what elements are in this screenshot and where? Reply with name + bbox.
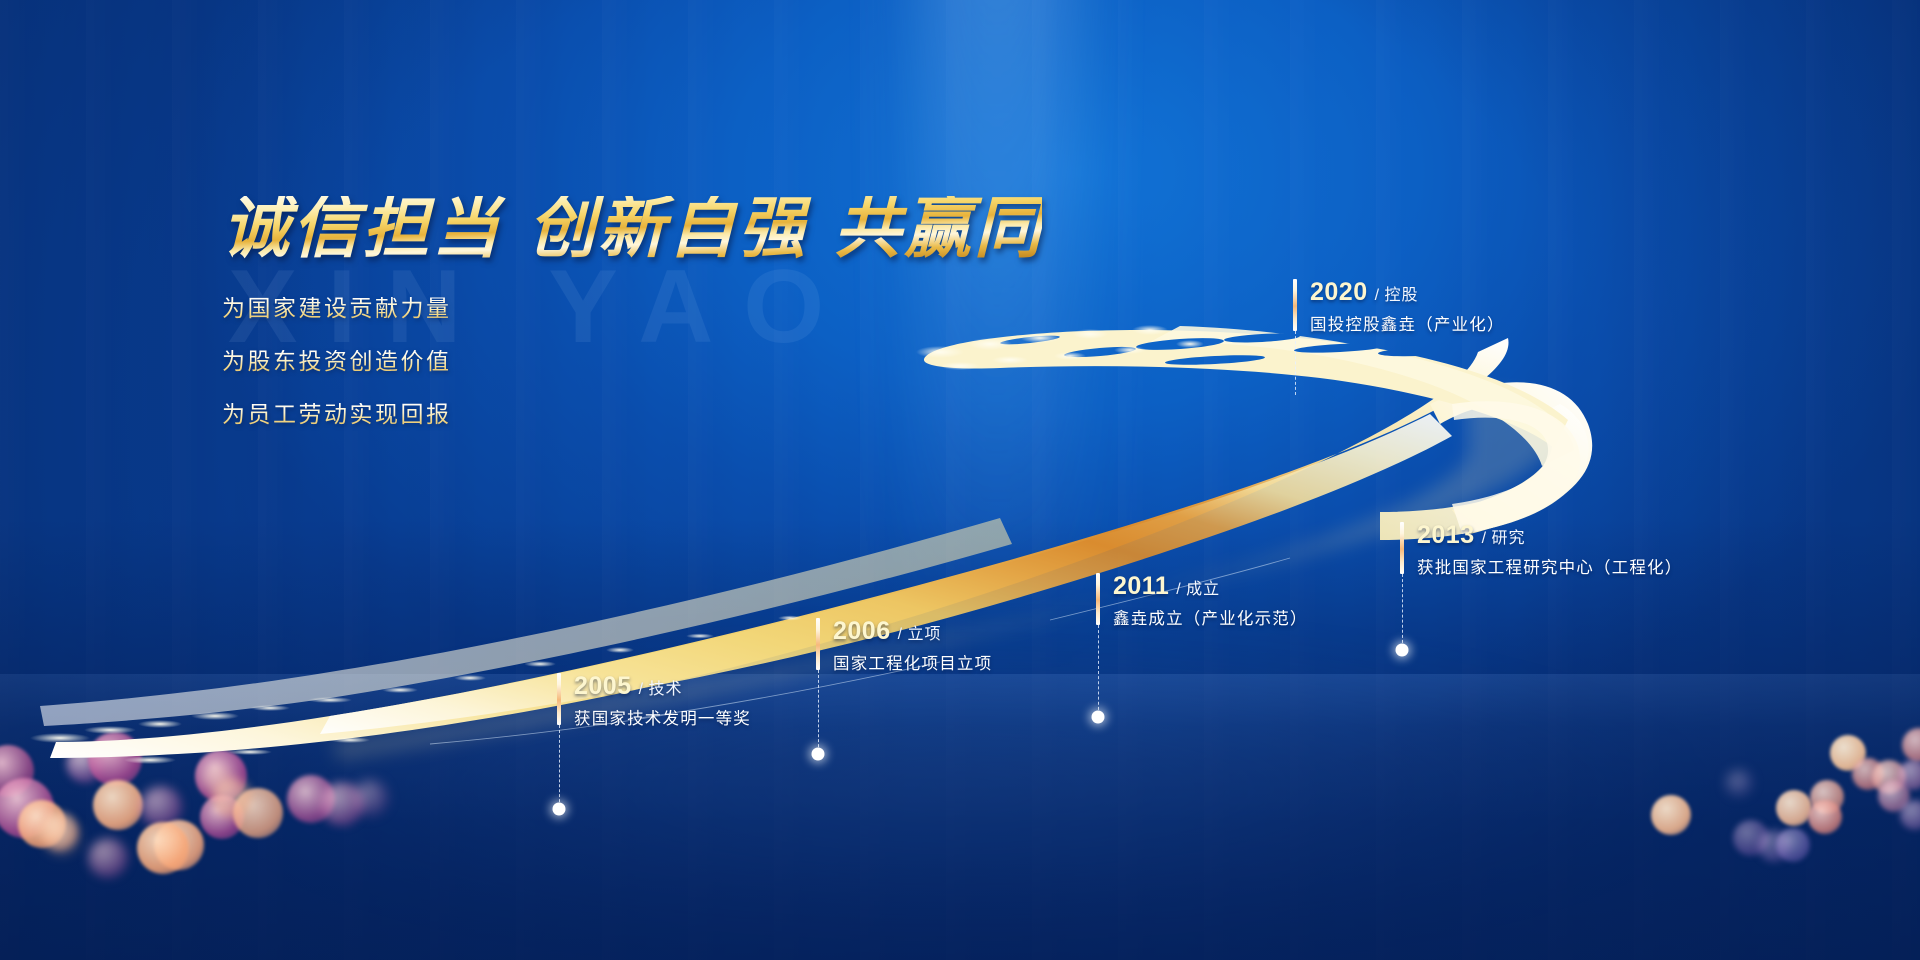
headline-block: XIN YAO 诚信担当创新自强共赢同享 为国家建设贡献力量 为股东投资创造价值… <box>222 196 1042 456</box>
milestone-2011[interactable]: 2011/ 成立 鑫垚成立（产业化示范） <box>1096 573 1308 628</box>
slogan-list: 为国家建设贡献力量 为股东投资创造价值 为员工劳动实现回报 <box>222 297 1042 426</box>
slogan-line: 为股东投资创造价值 <box>222 350 452 373</box>
brush-stroke-swoosh <box>0 0 1920 960</box>
milestone-leader-line-2005 <box>559 725 560 807</box>
slogan-line: 为员工劳动实现回报 <box>222 403 452 426</box>
milestone-dot-2013 <box>1396 644 1409 657</box>
milestone-description: 国投控股鑫垚（产业化） <box>1310 317 1505 334</box>
title-part-3: 共赢同享 <box>834 192 1114 266</box>
milestone-2006[interactable]: 2006/ 立项 国家工程化项目立项 <box>816 618 992 673</box>
milestone-accent-bar <box>1400 522 1404 574</box>
milestone-year: 2005 <box>574 674 632 699</box>
banner-canvas: XIN YAO 诚信担当创新自强共赢同享 为国家建设贡献力量 为股东投资创造价值… <box>0 0 1920 960</box>
milestone-2005[interactable]: 2005/ 技术 获国家技术发明一等奖 <box>557 673 751 728</box>
milestone-dot-2011 <box>1092 711 1105 724</box>
milestone-year: 2013 <box>1417 523 1475 548</box>
slogan-line: 为国家建设贡献力量 <box>222 297 452 320</box>
milestone-accent-bar <box>557 673 561 725</box>
milestone-tag: 控股 <box>1385 287 1419 304</box>
milestone-2020[interactable]: 2020/ 控股 国投控股鑫垚（产业化） <box>1293 279 1505 334</box>
milestone-year: 2006 <box>833 619 891 644</box>
milestone-accent-bar <box>1293 279 1297 331</box>
milestone-year: 2011 <box>1113 574 1169 599</box>
page-title: 诚信担当创新自强共赢同享 <box>222 196 1042 263</box>
milestone-tag: 成立 <box>1186 581 1220 598</box>
milestone-2013[interactable]: 2013/ 研究 获批国家工程研究中心（工程化） <box>1400 522 1683 577</box>
title-part-1: 诚信担当 <box>222 192 502 266</box>
milestone-leader-line-2011 <box>1098 625 1099 715</box>
milestone-tag: 研究 <box>1492 530 1526 547</box>
milestone-tag: 技术 <box>649 681 683 698</box>
milestone-leader-line-2013 <box>1402 574 1403 648</box>
milestone-description: 国家工程化项目立项 <box>833 656 992 673</box>
milestone-description: 获批国家工程研究中心（工程化） <box>1417 560 1683 577</box>
milestone-dot-2005 <box>553 803 566 816</box>
milestone-leader-line-2020 <box>1295 331 1296 395</box>
milestone-description: 获国家技术发明一等奖 <box>574 711 751 728</box>
milestone-separator: / <box>1375 287 1380 304</box>
milestone-leader-line-2006 <box>818 670 819 752</box>
milestone-separator: / <box>1176 581 1181 598</box>
milestone-accent-bar <box>1096 573 1100 625</box>
milestone-accent-bar <box>816 618 820 670</box>
milestone-dot-2006 <box>812 748 825 761</box>
milestone-separator: / <box>639 681 644 698</box>
milestone-tag: 立项 <box>908 626 942 643</box>
title-part-2: 创新自强 <box>528 192 808 266</box>
milestone-description: 鑫垚成立（产业化示范） <box>1113 611 1308 628</box>
milestone-year: 2020 <box>1310 280 1368 305</box>
milestone-separator: / <box>898 626 903 643</box>
milestone-separator: / <box>1482 530 1487 547</box>
